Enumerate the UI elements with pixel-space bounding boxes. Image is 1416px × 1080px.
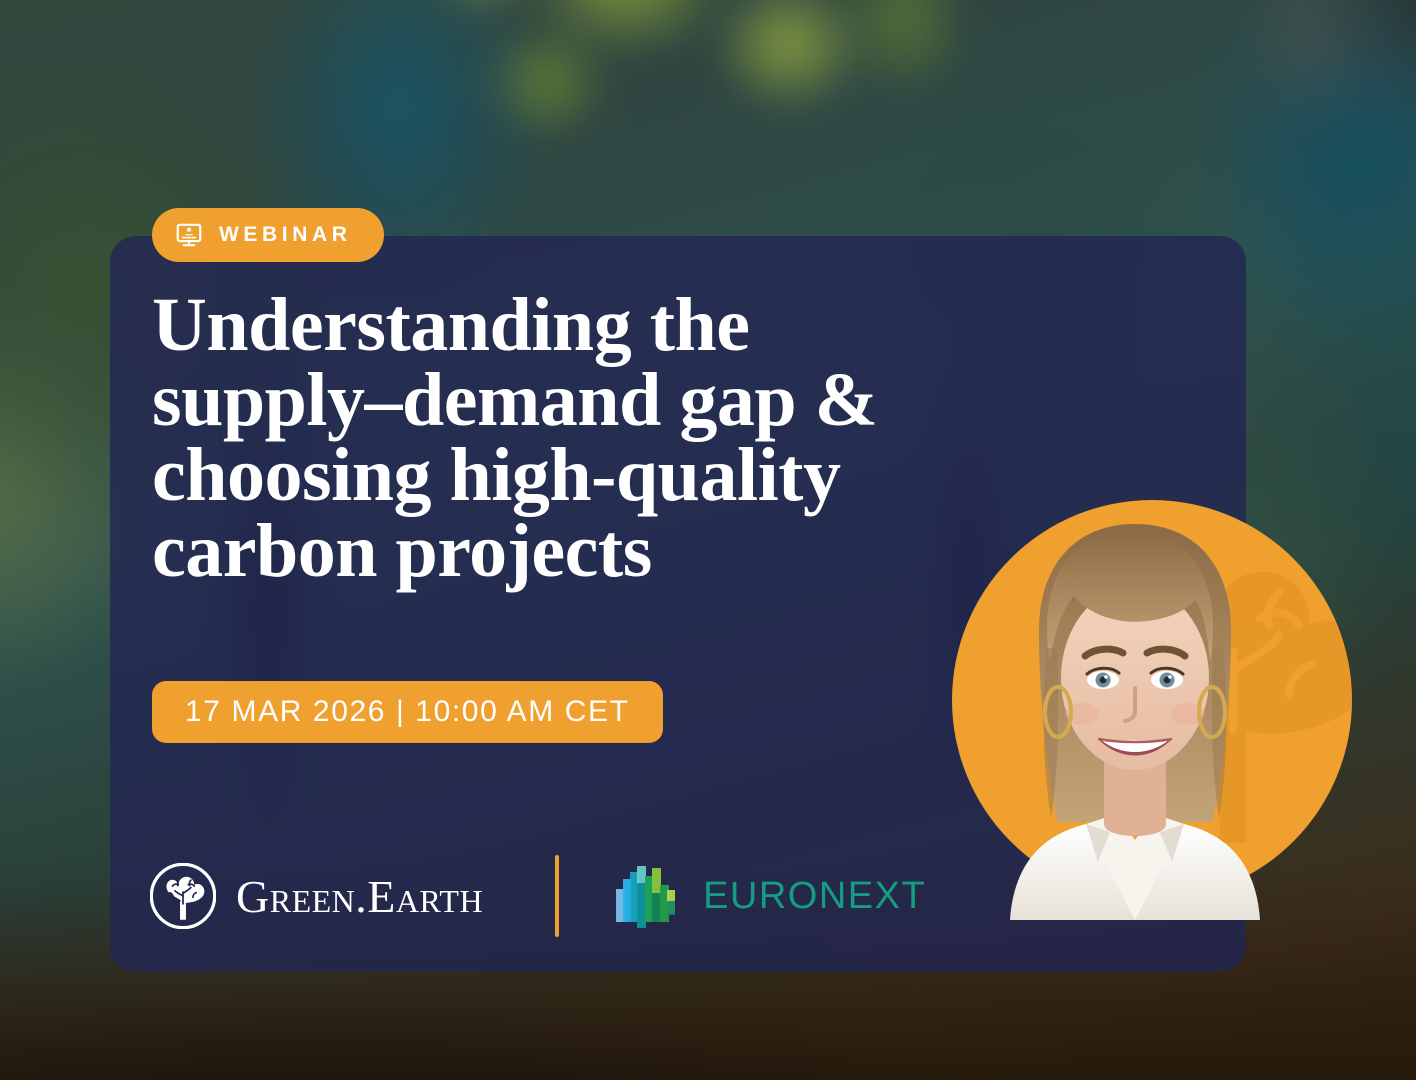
- euronext-bars-icon: [615, 863, 685, 929]
- euronext-logo: EURONEXT: [615, 863, 926, 929]
- speaker-block: WIENKE SCHOUWINK: [952, 500, 1352, 970]
- green-earth-logo: Green.Earth: [150, 863, 483, 929]
- footer-logos: Green.Earth EURONEXT: [150, 855, 926, 937]
- date-time-badge: 17 MAR 2026 | 10:00 AM CET: [152, 681, 663, 743]
- title-line-4: carbon projects: [152, 514, 1032, 589]
- euronext-wordmark: EURONEXT: [703, 875, 926, 918]
- webinar-badge-label: WEBINAR: [219, 223, 352, 247]
- title-line-3: choosing high-quality: [152, 438, 1032, 513]
- date-time-label: 17 MAR 2026 | 10:00 AM CET: [185, 695, 630, 729]
- tree-circle-emblem-icon: [150, 863, 216, 929]
- page-title: Understanding the supply–demand gap & ch…: [152, 288, 1032, 589]
- title-line-1: Understanding the: [152, 288, 1032, 363]
- speaker-portrait: [970, 508, 1300, 920]
- logo-divider: [555, 855, 559, 937]
- green-earth-wordmark: Green.Earth: [236, 870, 483, 923]
- webinar-monitor-icon: [176, 222, 202, 248]
- webinar-promo-card: WEBINAR Understanding the supply–demand …: [0, 0, 1416, 1080]
- title-line-2: supply–demand gap &: [152, 363, 1032, 438]
- webinar-badge: WEBINAR: [152, 208, 384, 262]
